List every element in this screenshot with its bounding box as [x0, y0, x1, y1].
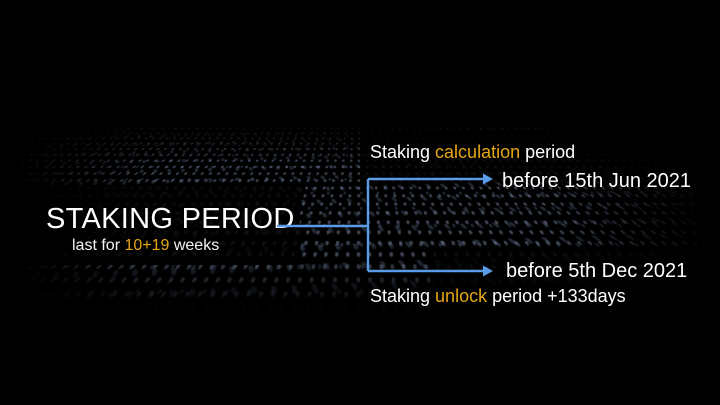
- slide-canvas: STAKING PERIOD last for 10+19 weeks Stak…: [0, 0, 720, 405]
- top-branch-label: Staking calculation period: [370, 142, 575, 163]
- top-branch-date: before 15th Jun 2021: [502, 170, 691, 193]
- bottom-branch-label-prefix: Staking: [370, 286, 435, 306]
- subtitle-duration-highlight: 10+19: [124, 237, 169, 254]
- top-branch-label-suffix: period: [520, 142, 575, 162]
- headline-subtitle: last for 10+19 weeks: [72, 237, 219, 255]
- bottom-branch-label-suffix: period +133days: [487, 286, 626, 306]
- bottom-branch-label: Staking unlock period +133days: [370, 286, 626, 307]
- bottom-branch-label-highlight: unlock: [435, 286, 487, 306]
- top-branch-label-prefix: Staking: [370, 142, 435, 162]
- subtitle-prefix: last for: [72, 237, 124, 254]
- subtitle-suffix: weeks: [169, 237, 219, 254]
- bottom-branch-date: before 5th Dec 2021: [506, 260, 687, 283]
- top-branch-label-highlight: calculation: [435, 142, 520, 162]
- page-title: STAKING PERIOD: [46, 203, 295, 236]
